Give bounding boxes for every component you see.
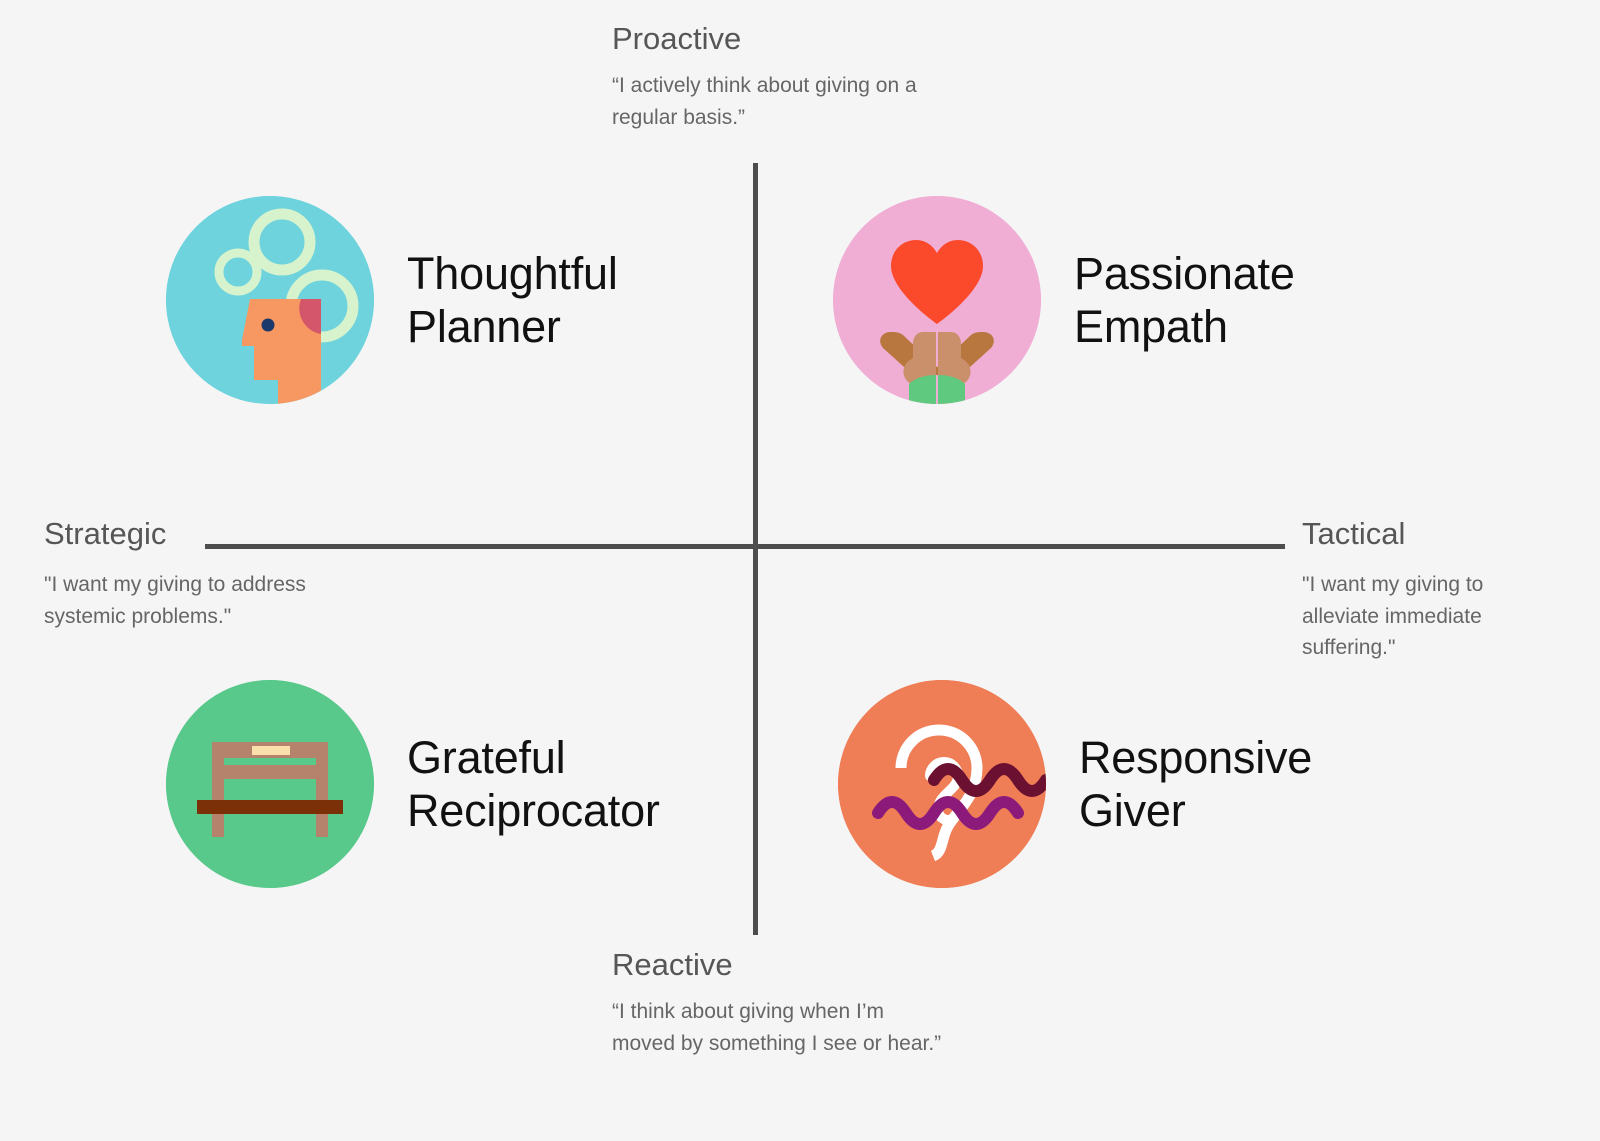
quadrant-passionate-empath[interactable]: Passionate Empath — [833, 196, 1295, 404]
quadrant-title-responsive-giver: Responsive Giver — [1079, 731, 1312, 837]
giving-styles-matrix: Proactive “I actively think about giving… — [0, 0, 1600, 1141]
axis-name-strategic: Strategic — [44, 518, 384, 549]
axis-name-proactive: Proactive — [612, 22, 942, 56]
quadrant-responsive-giver[interactable]: Responsive Giver — [838, 680, 1312, 888]
vertical-axis-line — [753, 163, 758, 935]
quadrant-title-grateful-reciprocator: Grateful Reciprocator — [407, 731, 660, 837]
quadrant-title-thoughtful-planner: Thoughtful Planner — [407, 247, 618, 353]
axis-quote-tactical: "I want my giving to alleviate immediate… — [1302, 569, 1562, 664]
axis-label-proactive: Proactive “I actively think about giving… — [612, 22, 942, 133]
listening-ear-icon — [838, 680, 1046, 888]
axis-quote-proactive: “I actively think about giving on a regu… — [612, 70, 942, 133]
axis-label-reactive: Reactive “I think about giving when I’m … — [612, 948, 952, 1059]
axis-name-reactive: Reactive — [612, 948, 952, 982]
quadrant-title-passionate-empath: Passionate Empath — [1074, 247, 1295, 353]
heart-in-hands-icon — [833, 196, 1041, 404]
axis-quote-strategic: "I want my giving to address systemic pr… — [44, 569, 384, 632]
quadrant-thoughtful-planner[interactable]: Thoughtful Planner — [166, 196, 618, 404]
park-bench-icon — [166, 680, 374, 888]
quadrant-grateful-reciprocator[interactable]: Grateful Reciprocator — [166, 680, 660, 888]
axis-label-tactical: Tactical "I want my giving to alleviate … — [1302, 518, 1562, 664]
axis-label-strategic: Strategic "I want my giving to address s… — [44, 518, 384, 632]
axis-quote-reactive: “I think about giving when I’m moved by … — [612, 996, 952, 1059]
axis-name-tactical: Tactical — [1302, 518, 1562, 549]
thinking-head-icon — [166, 196, 374, 404]
